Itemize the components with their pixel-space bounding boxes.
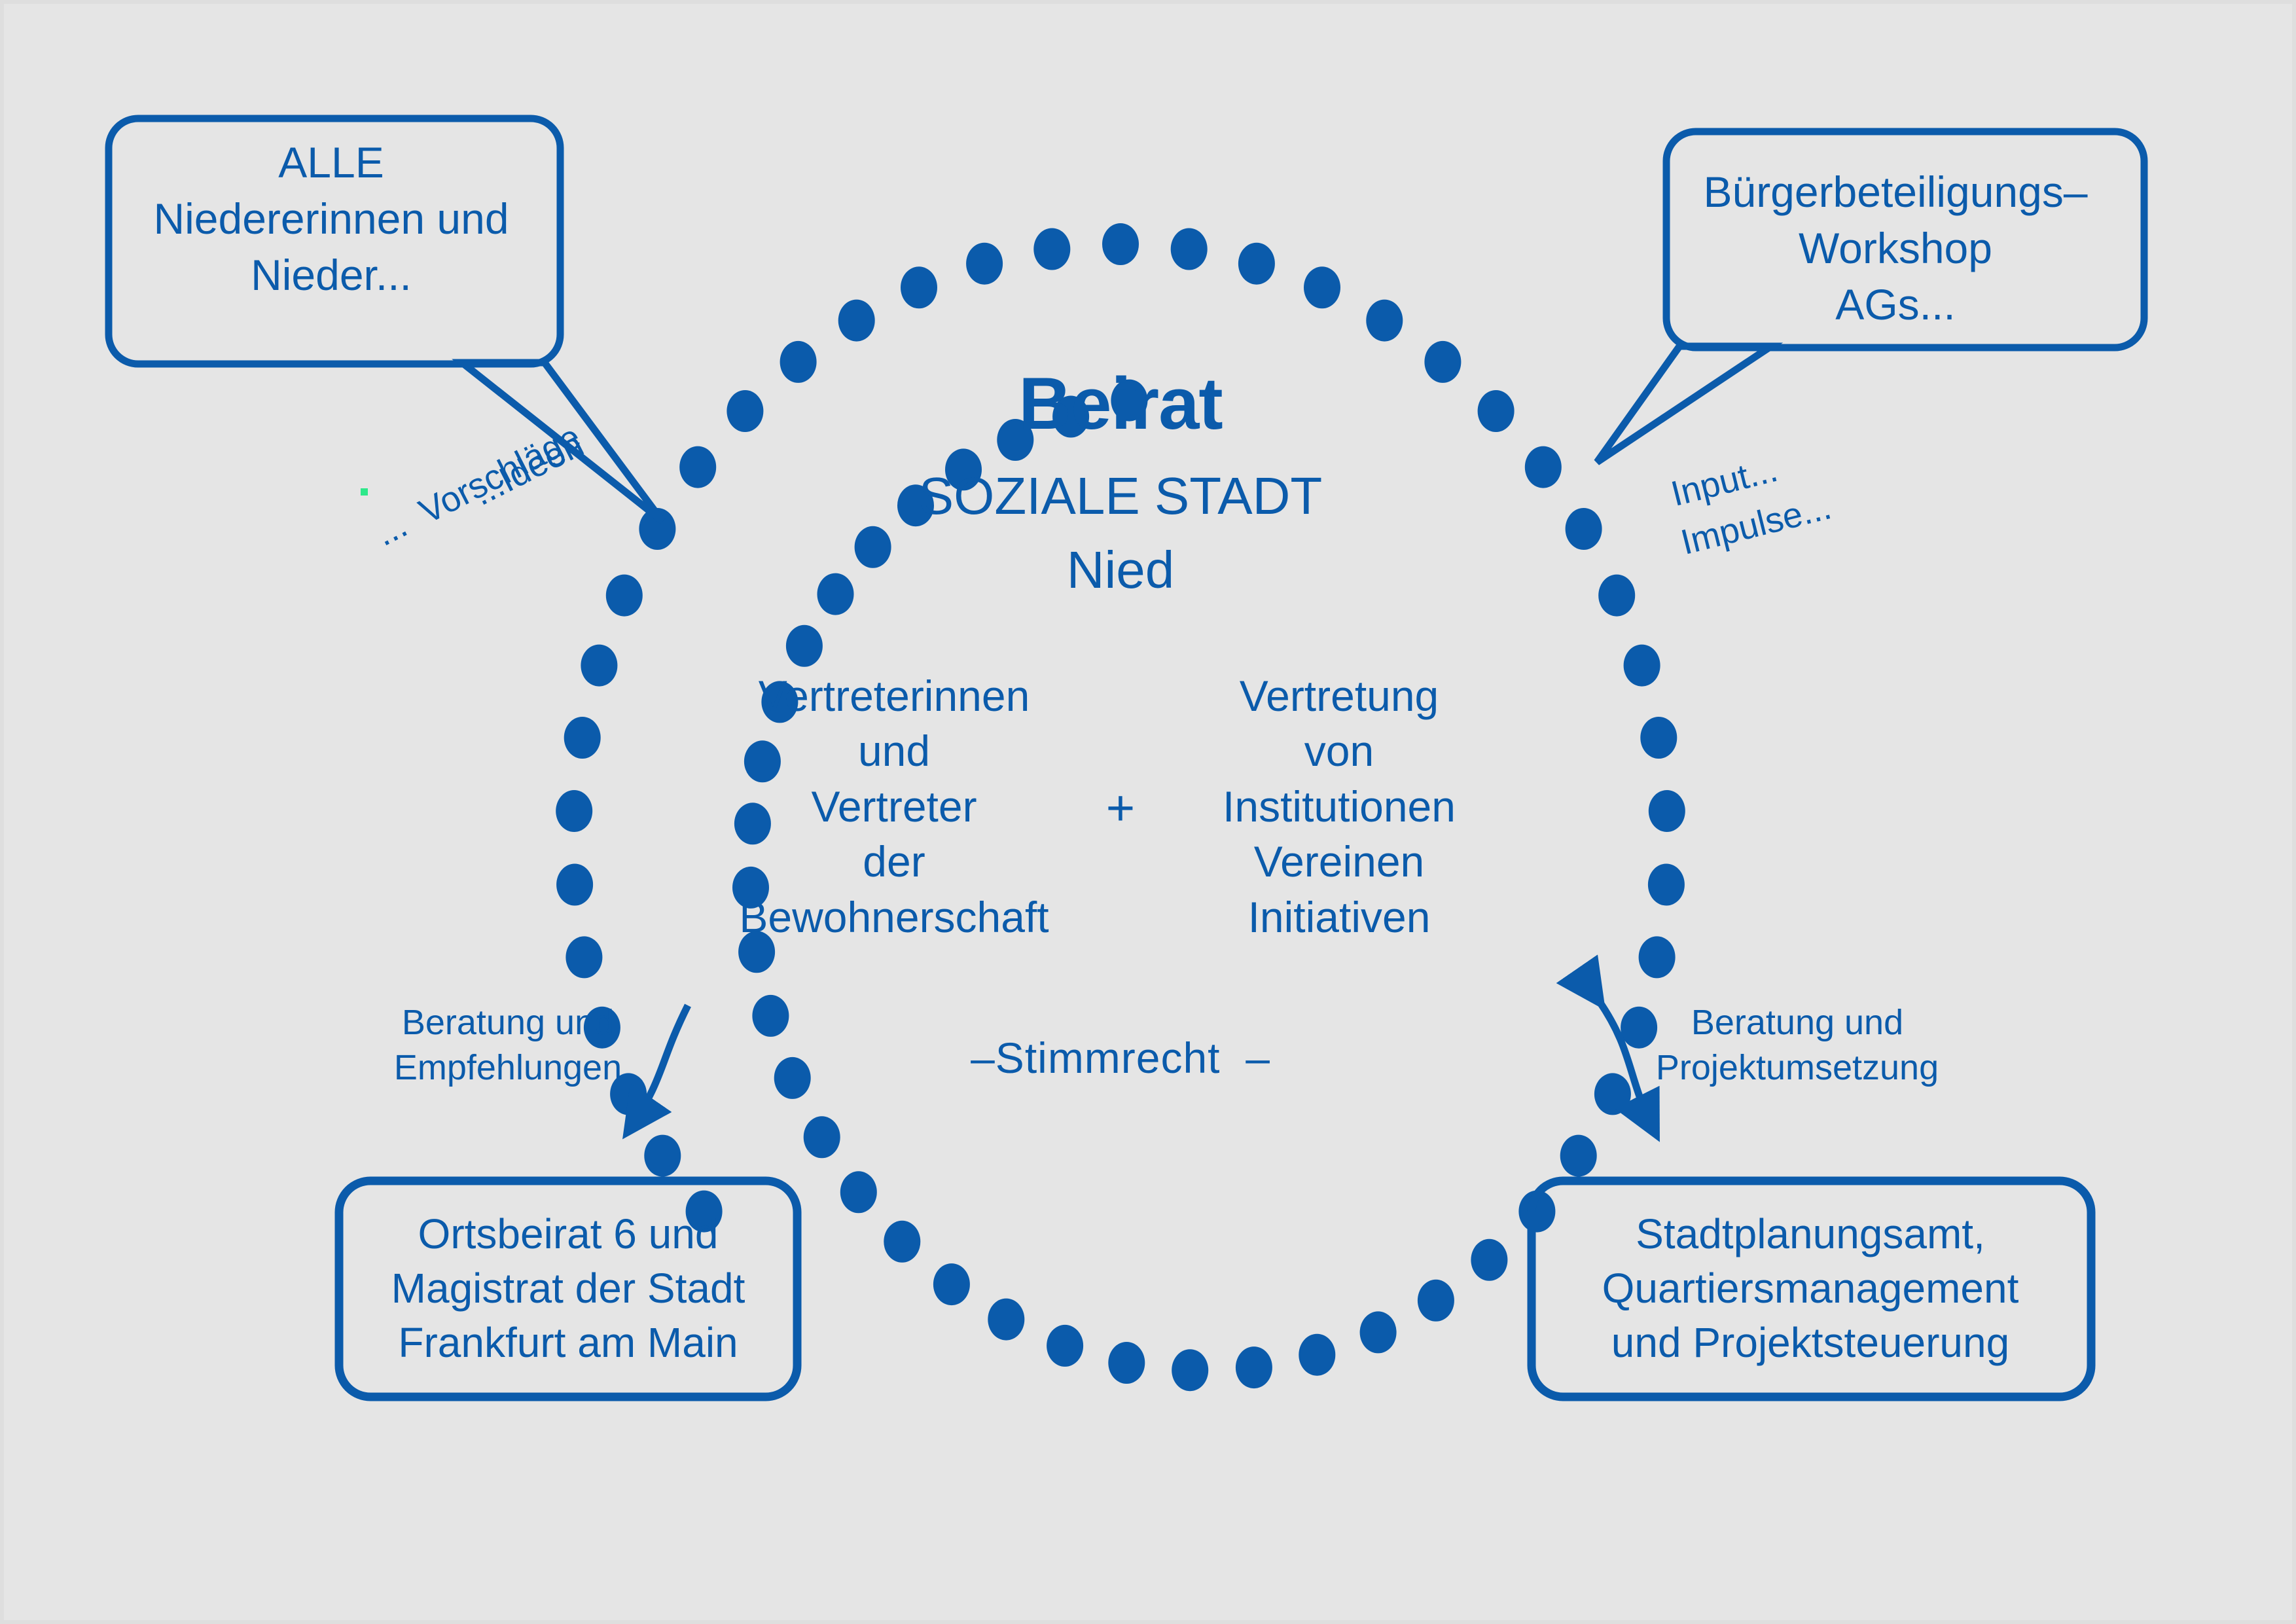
center-left-column: Vertreterinnen und Vertreter der Bewohne… bbox=[739, 668, 1049, 945]
speech-bubble-top-left-label: ALLE Niedererinnen und Nieder... bbox=[153, 135, 509, 303]
stimmrecht-note: –Stimmrecht – bbox=[971, 1033, 1270, 1084]
box-bottom-right-label: Stadtplanungsamt, Quartiersmanagement un… bbox=[1602, 1207, 2019, 1371]
box-bottom-left-label: Ortsbeirat 6 und Magistrat der Stadt Fra… bbox=[391, 1207, 745, 1371]
speech-bubble-tail-top-right bbox=[1597, 346, 1771, 462]
center-subtitle-line2: Nied bbox=[1067, 539, 1175, 601]
center-title: Beirat bbox=[1018, 361, 1222, 447]
speech-bubble-top-right-label: Bürgerbeteiligungs– Workshop AGs... bbox=[1703, 164, 2087, 333]
center-subtitle-line1: SOZIALE STADT bbox=[919, 465, 1322, 527]
plus-symbol: + bbox=[1106, 780, 1135, 837]
green-speck-artifact bbox=[361, 488, 368, 496]
note-beratung-projektumsetzung: Beratung und Projektumsetzung bbox=[1656, 1000, 1939, 1091]
center-right-column: Vertretung von Institutionen Vereinen In… bbox=[1223, 668, 1456, 945]
diagram-canvas: Beirat SOZIALE STADT Nied Vertreterinnen… bbox=[0, 0, 2296, 1624]
note-beratung-empfehlungen: Beratung und Empfehlungen bbox=[394, 1000, 622, 1091]
arrow-beratung-empfehlungen bbox=[629, 1005, 688, 1130]
